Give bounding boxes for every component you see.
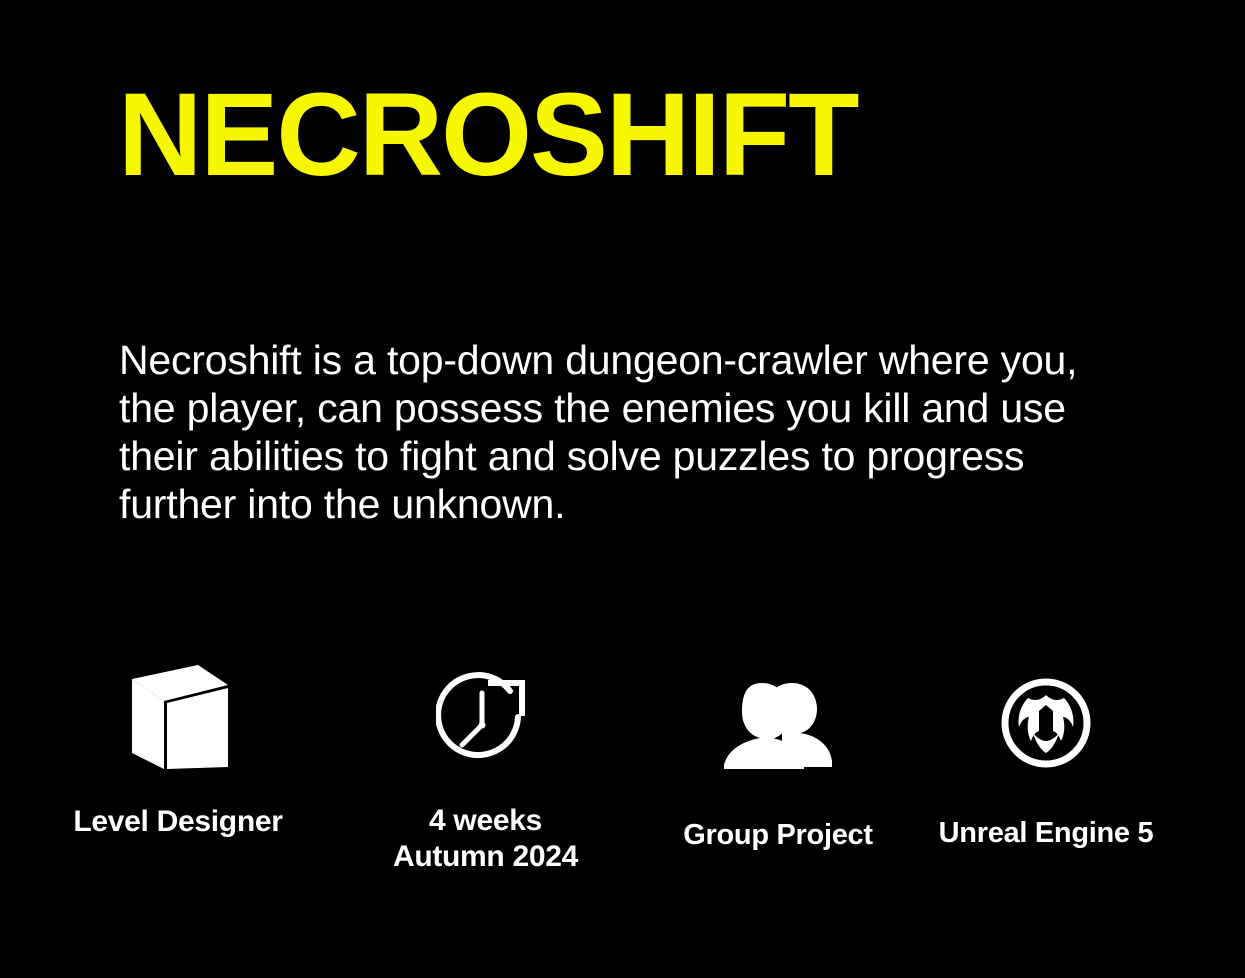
- meta-label-duration-line1: 4 weeks: [429, 804, 542, 837]
- clock-arrow-icon: [436, 655, 536, 771]
- project-meta-row: Level Designer 4 weeks Autumn 2024: [0, 655, 1245, 895]
- cube-icon: [126, 655, 230, 773]
- meta-label-team: Group Project: [683, 819, 872, 852]
- project-title: NECROSHIFT: [118, 76, 858, 194]
- meta-item-team: Group Project: [653, 655, 903, 852]
- meta-item-duration: 4 weeks Autumn 2024: [348, 655, 623, 875]
- project-description: Necroshift is a top-down dungeon-crawler…: [119, 336, 1099, 528]
- group-people-icon: [722, 655, 834, 781]
- meta-item-engine: Unreal Engine 5: [921, 655, 1171, 850]
- meta-item-role: Level Designer: [28, 655, 328, 839]
- meta-label-duration-line2: Autumn 2024: [393, 839, 578, 875]
- meta-label-engine: Unreal Engine 5: [939, 817, 1154, 850]
- unreal-engine-icon: [1000, 655, 1092, 779]
- project-slide: NECROSHIFT Necroshift is a top-down dung…: [0, 0, 1245, 978]
- meta-label-role: Level Designer: [73, 805, 282, 839]
- meta-label-duration: 4 weeks Autumn 2024: [393, 803, 578, 875]
